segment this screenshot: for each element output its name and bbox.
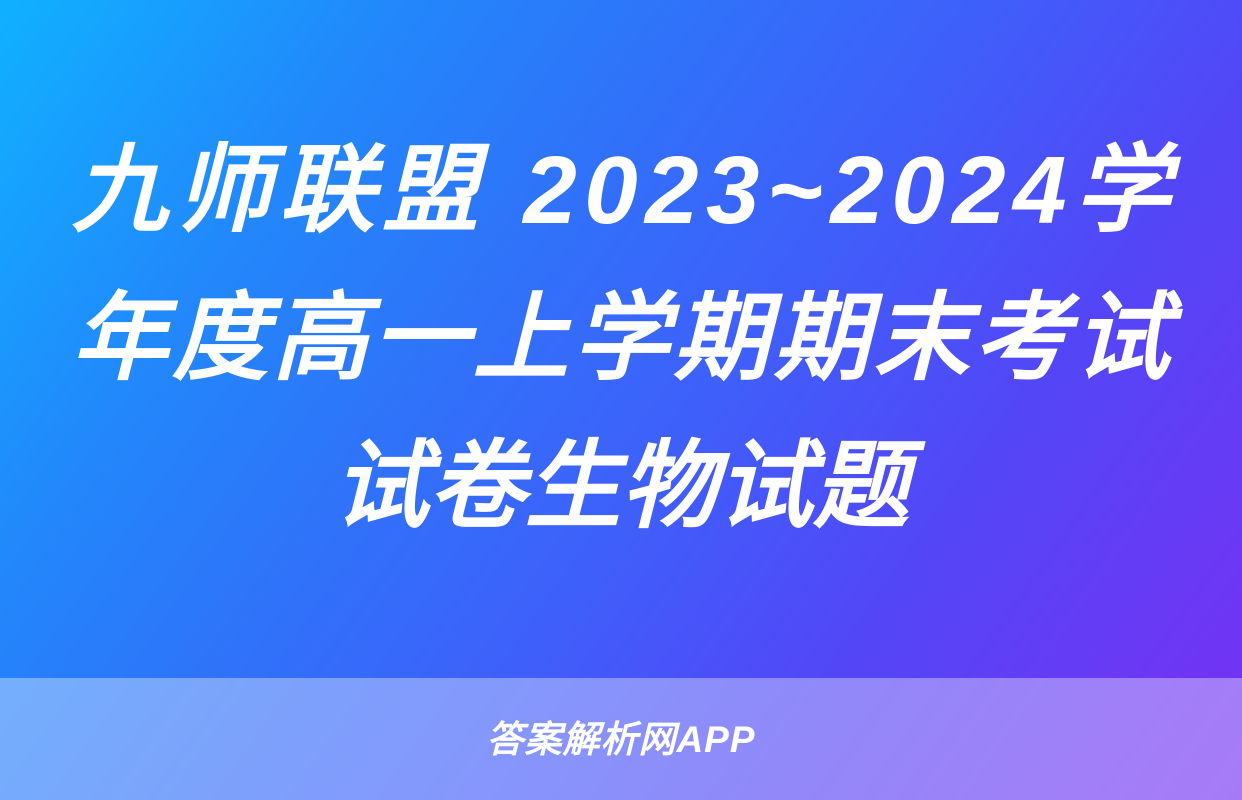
title-glyph: 上 xyxy=(473,265,569,413)
exam-title-banner: 九师联盟 2023~2024学 年度高一上学期期末考试 试卷生物试题 答案解析网… xyxy=(0,0,1242,800)
title-glyph: 九 xyxy=(72,117,168,265)
title-glyph: 盟 xyxy=(382,117,478,265)
title-glyph: 0 xyxy=(891,117,944,265)
title-glyph: 试 xyxy=(1074,265,1170,413)
title-glyph: ~ xyxy=(767,117,823,265)
title-glyph: 学 xyxy=(1074,117,1170,265)
title-glyph: 考 xyxy=(974,265,1070,413)
title-glyph: 题 xyxy=(813,413,909,561)
title-glyph: 度 xyxy=(172,265,268,413)
footer-band: 答案解析网APP xyxy=(0,678,1242,800)
title-line-1: 九师联盟 2023~2024学 xyxy=(72,117,1170,265)
title-glyph: 年 xyxy=(72,265,168,413)
title-glyph: 2 xyxy=(523,117,576,265)
title-line-3: 试卷生物试题 xyxy=(72,413,1170,561)
title-glyph: 物 xyxy=(621,413,717,561)
title-glyph: 生 xyxy=(525,413,621,561)
title-glyph: 3 xyxy=(706,117,759,265)
title-glyph: 师 xyxy=(175,117,271,265)
title-glyph: 期 xyxy=(773,265,869,413)
title-glyph: 期 xyxy=(673,265,769,413)
title-glyph: 试 xyxy=(717,413,813,561)
title-glyph xyxy=(486,117,516,265)
title-glyph: 联 xyxy=(279,117,375,265)
title-glyph: 试 xyxy=(333,413,429,561)
title-glyph: 末 xyxy=(874,265,970,413)
title-glyph: 4 xyxy=(1013,117,1066,265)
title-glyph: 2 xyxy=(952,117,1005,265)
title-glyph: 一 xyxy=(373,265,469,413)
title-line-2: 年度高一上学期期末考试 xyxy=(72,265,1170,413)
title-glyph: 卷 xyxy=(429,413,525,561)
app-watermark-label: 答案解析网APP xyxy=(486,721,755,758)
title-glyph: 2 xyxy=(830,117,883,265)
title-glyph: 2 xyxy=(645,117,698,265)
title-block: 九师联盟 2023~2024学 年度高一上学期期末考试 试卷生物试题 xyxy=(0,0,1242,678)
title-glyph: 0 xyxy=(584,117,637,265)
title-glyph: 学 xyxy=(573,265,669,413)
title-glyph: 高 xyxy=(272,265,368,413)
